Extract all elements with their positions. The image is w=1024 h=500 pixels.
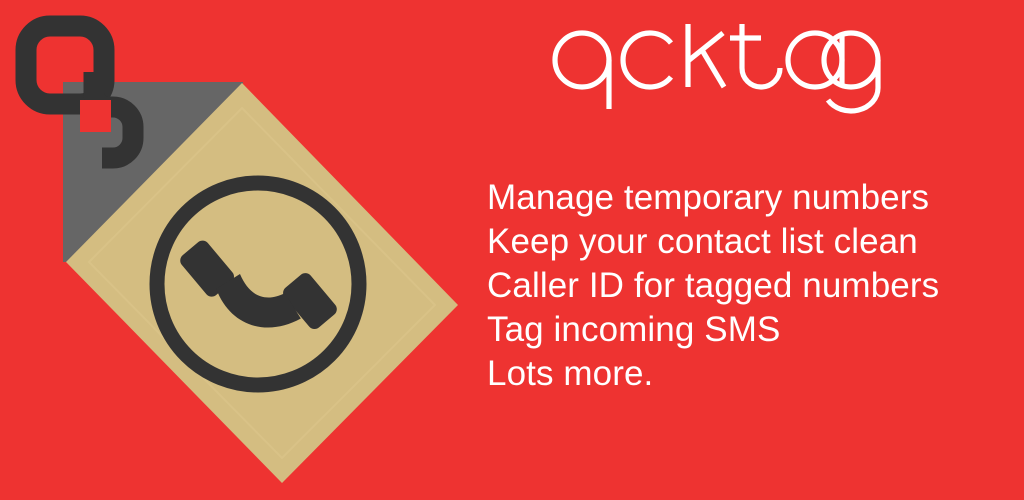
right-column: Manage temporary numbers Keep your conta… bbox=[480, 0, 1024, 500]
q-glyph-notch bbox=[80, 100, 111, 132]
feature-list: Manage temporary numbers Keep your conta… bbox=[487, 176, 1017, 396]
feature-item: Lots more. bbox=[487, 352, 1017, 396]
feature-item: Caller ID for tagged numbers bbox=[487, 264, 1017, 308]
wordmark-letter-g-bowl bbox=[824, 33, 878, 87]
wordmark-letter-q-bowl bbox=[555, 33, 609, 87]
feature-graphic: Manage temporary numbers Keep your conta… bbox=[0, 0, 1024, 500]
feature-item: Tag incoming SMS bbox=[487, 308, 1017, 352]
wordmark-letter-k-arm-down bbox=[702, 50, 724, 87]
feature-item: Manage temporary numbers bbox=[487, 176, 1017, 220]
app-icon-artwork bbox=[0, 0, 480, 500]
wordmark-letter-c bbox=[623, 33, 671, 87]
wordmark-qcktag bbox=[552, 16, 882, 112]
wordmark-letter-t-stem bbox=[742, 24, 780, 87]
feature-item: Keep your contact list clean bbox=[487, 220, 1017, 264]
